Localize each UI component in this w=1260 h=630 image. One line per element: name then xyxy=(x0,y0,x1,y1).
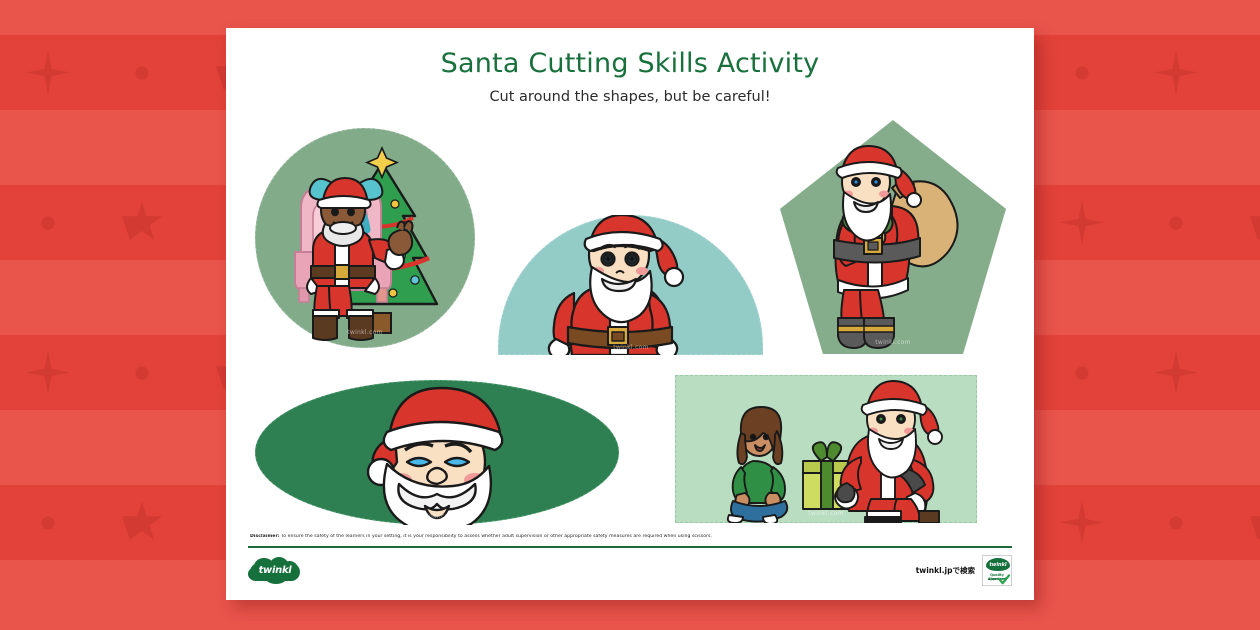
dot-icon xyxy=(136,66,149,79)
footer: Disclaimer: To ensure the safety of the … xyxy=(248,534,1012,586)
twinkl-jp-search-text: twinkl.jpで検索 xyxy=(916,565,975,576)
star-icon xyxy=(1249,202,1260,244)
cut-shape-rectangle[interactable]: twinkl.com xyxy=(675,375,977,523)
sparkle-icon xyxy=(1060,201,1104,245)
star-icon xyxy=(121,202,163,244)
disclaimer-label: Disclaimer: xyxy=(250,534,280,539)
dot-icon xyxy=(136,366,149,379)
twinkl-logo-text: twinkl xyxy=(248,557,302,585)
cutting-shapes-area: twinkl.com xyxy=(226,90,1034,530)
disclaimer-body: To ensure the safety of the learners in … xyxy=(280,534,712,539)
cut-shape-ellipse[interactable]: twinkl.com xyxy=(255,380,619,525)
star-icon xyxy=(1249,502,1260,544)
cut-shape-circle[interactable]: twinkl.com xyxy=(255,128,475,348)
santa-armchair-tree-illustration: twinkl.com xyxy=(255,128,475,348)
dot-icon xyxy=(1170,516,1183,529)
checkmark-icon xyxy=(999,574,1010,585)
sparkle-icon xyxy=(26,351,70,395)
worksheet-paper: Santa Cutting Skills Activity Cut around… xyxy=(226,28,1034,600)
dot-icon xyxy=(1170,216,1183,229)
cut-shape-semicircle[interactable]: twinkl.com xyxy=(498,215,763,355)
santa-hands-on-hips-illustration: twinkl.com xyxy=(498,215,763,355)
footer-divider xyxy=(248,546,1012,549)
disclaimer-text: Disclaimer: To ensure the safety of the … xyxy=(250,534,1012,540)
badge-twinkl-logo: twinkl xyxy=(986,558,1010,571)
cut-shape-pentagon[interactable]: twinkl.com xyxy=(780,120,1006,354)
footer-right-group: twinkl.jpで検索 twinkl Quality Standard App… xyxy=(916,555,1012,586)
sparkle-icon xyxy=(1154,351,1198,395)
quality-standard-approved-badge[interactable]: twinkl Quality Standard Approved xyxy=(982,555,1012,586)
watermark: twinkl.com xyxy=(808,510,844,517)
star-icon xyxy=(121,502,163,544)
sparkle-icon xyxy=(1154,51,1198,95)
dot-icon xyxy=(1076,66,1089,79)
badge-logo-text: twinkl xyxy=(986,558,1010,571)
sparkle-icon xyxy=(1060,501,1104,545)
sparkle-icon xyxy=(26,51,70,95)
santa-with-sack-illustration: twinkl.com xyxy=(780,120,1006,354)
santa-face-illustration: twinkl.com xyxy=(255,380,619,525)
dot-icon xyxy=(1076,366,1089,379)
dot-icon xyxy=(42,516,55,529)
santa-giving-present-illustration: twinkl.com xyxy=(675,375,977,523)
page-title: Santa Cutting Skills Activity xyxy=(248,48,1012,79)
twinkl-logo[interactable]: twinkl xyxy=(248,557,302,585)
dot-icon xyxy=(42,216,55,229)
